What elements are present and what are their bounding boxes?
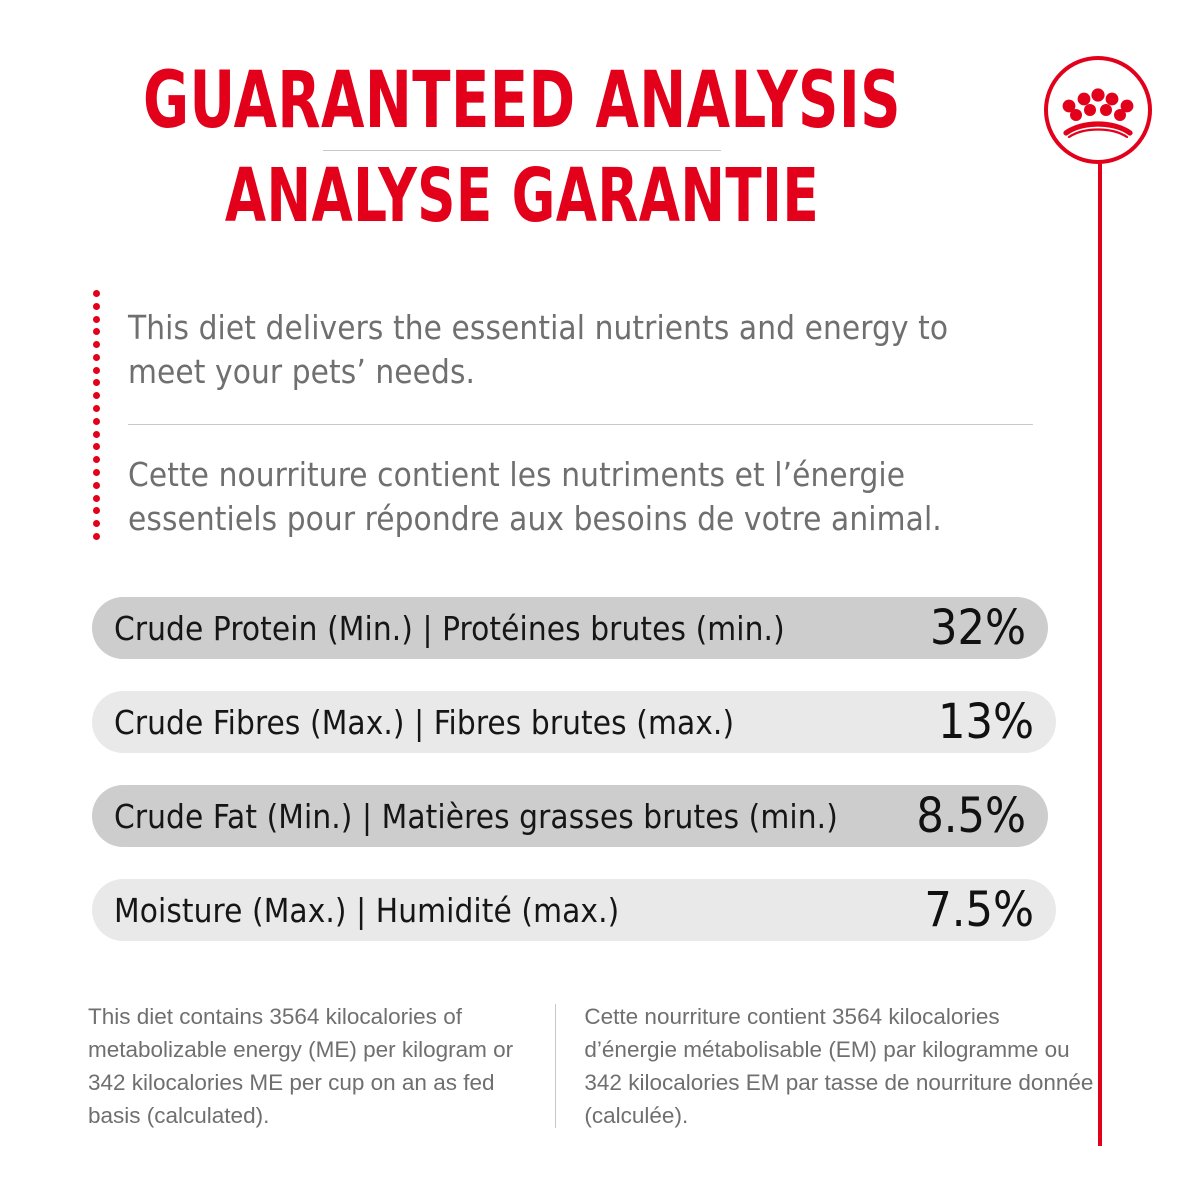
analysis-row-crude-fibres: Crude Fibres (Max.) | Fibres brutes (max… (92, 691, 1056, 753)
analysis-row-label: Moisture (Max.) | Humidité (max.) (114, 891, 619, 930)
crown-icon (1062, 86, 1134, 138)
intro-block: This diet delivers the essential nutrien… (128, 306, 1033, 541)
footer-block: This diet contains 3564 kilocalories of … (88, 1000, 1098, 1132)
page-title-en: GUARANTEED ANALYSIS (104, 62, 939, 140)
analysis-row-moisture: Moisture (Max.) | Humidité (max.) 7.5% (92, 879, 1056, 941)
title-divider (323, 150, 721, 151)
analysis-row-value: 7.5% (908, 886, 1034, 934)
footer-text-fr: Cette nourriture contient 3564 kilocalor… (584, 1000, 1098, 1132)
analysis-row-value: 32% (914, 604, 1026, 652)
intro-text-fr: Cette nourriture contient les nutriments… (128, 453, 1033, 541)
analysis-row-value: 8.5% (900, 792, 1026, 840)
footer-text-en: This diet contains 3564 kilocalories of … (88, 1000, 537, 1132)
analysis-row-value: 13% (922, 698, 1034, 746)
analysis-row-label: Crude Protein (Min.) | Protéines brutes … (114, 609, 785, 648)
page-title-fr: ANALYSE GARANTIE (104, 159, 939, 233)
footer-column-fr: Cette nourriture contient 3564 kilocalor… (556, 1000, 1098, 1132)
analysis-row-crude-fat: Crude Fat (Min.) | Matières grasses brut… (92, 785, 1048, 847)
guaranteed-analysis-panel: GUARANTEED ANALYSIS ANALYSE GARANTIE Thi… (0, 0, 1200, 1200)
brand-stem-line (1098, 150, 1102, 1146)
footer-column-en: This diet contains 3564 kilocalories of … (88, 1000, 555, 1132)
title-block: GUARANTEED ANALYSIS ANALYSE GARANTIE (0, 62, 1044, 233)
intro-text-en: This diet delivers the essential nutrien… (128, 306, 1033, 394)
intro-divider (128, 424, 1033, 425)
analysis-row-crude-protein: Crude Protein (Min.) | Protéines brutes … (92, 597, 1048, 659)
analysis-row-label: Crude Fat (Min.) | Matières grasses brut… (114, 797, 838, 836)
analysis-row-label: Crude Fibres (Max.) | Fibres brutes (max… (114, 703, 734, 742)
analysis-rows: Crude Protein (Min.) | Protéines brutes … (92, 597, 1060, 973)
dotted-rail-decoration (92, 290, 100, 540)
